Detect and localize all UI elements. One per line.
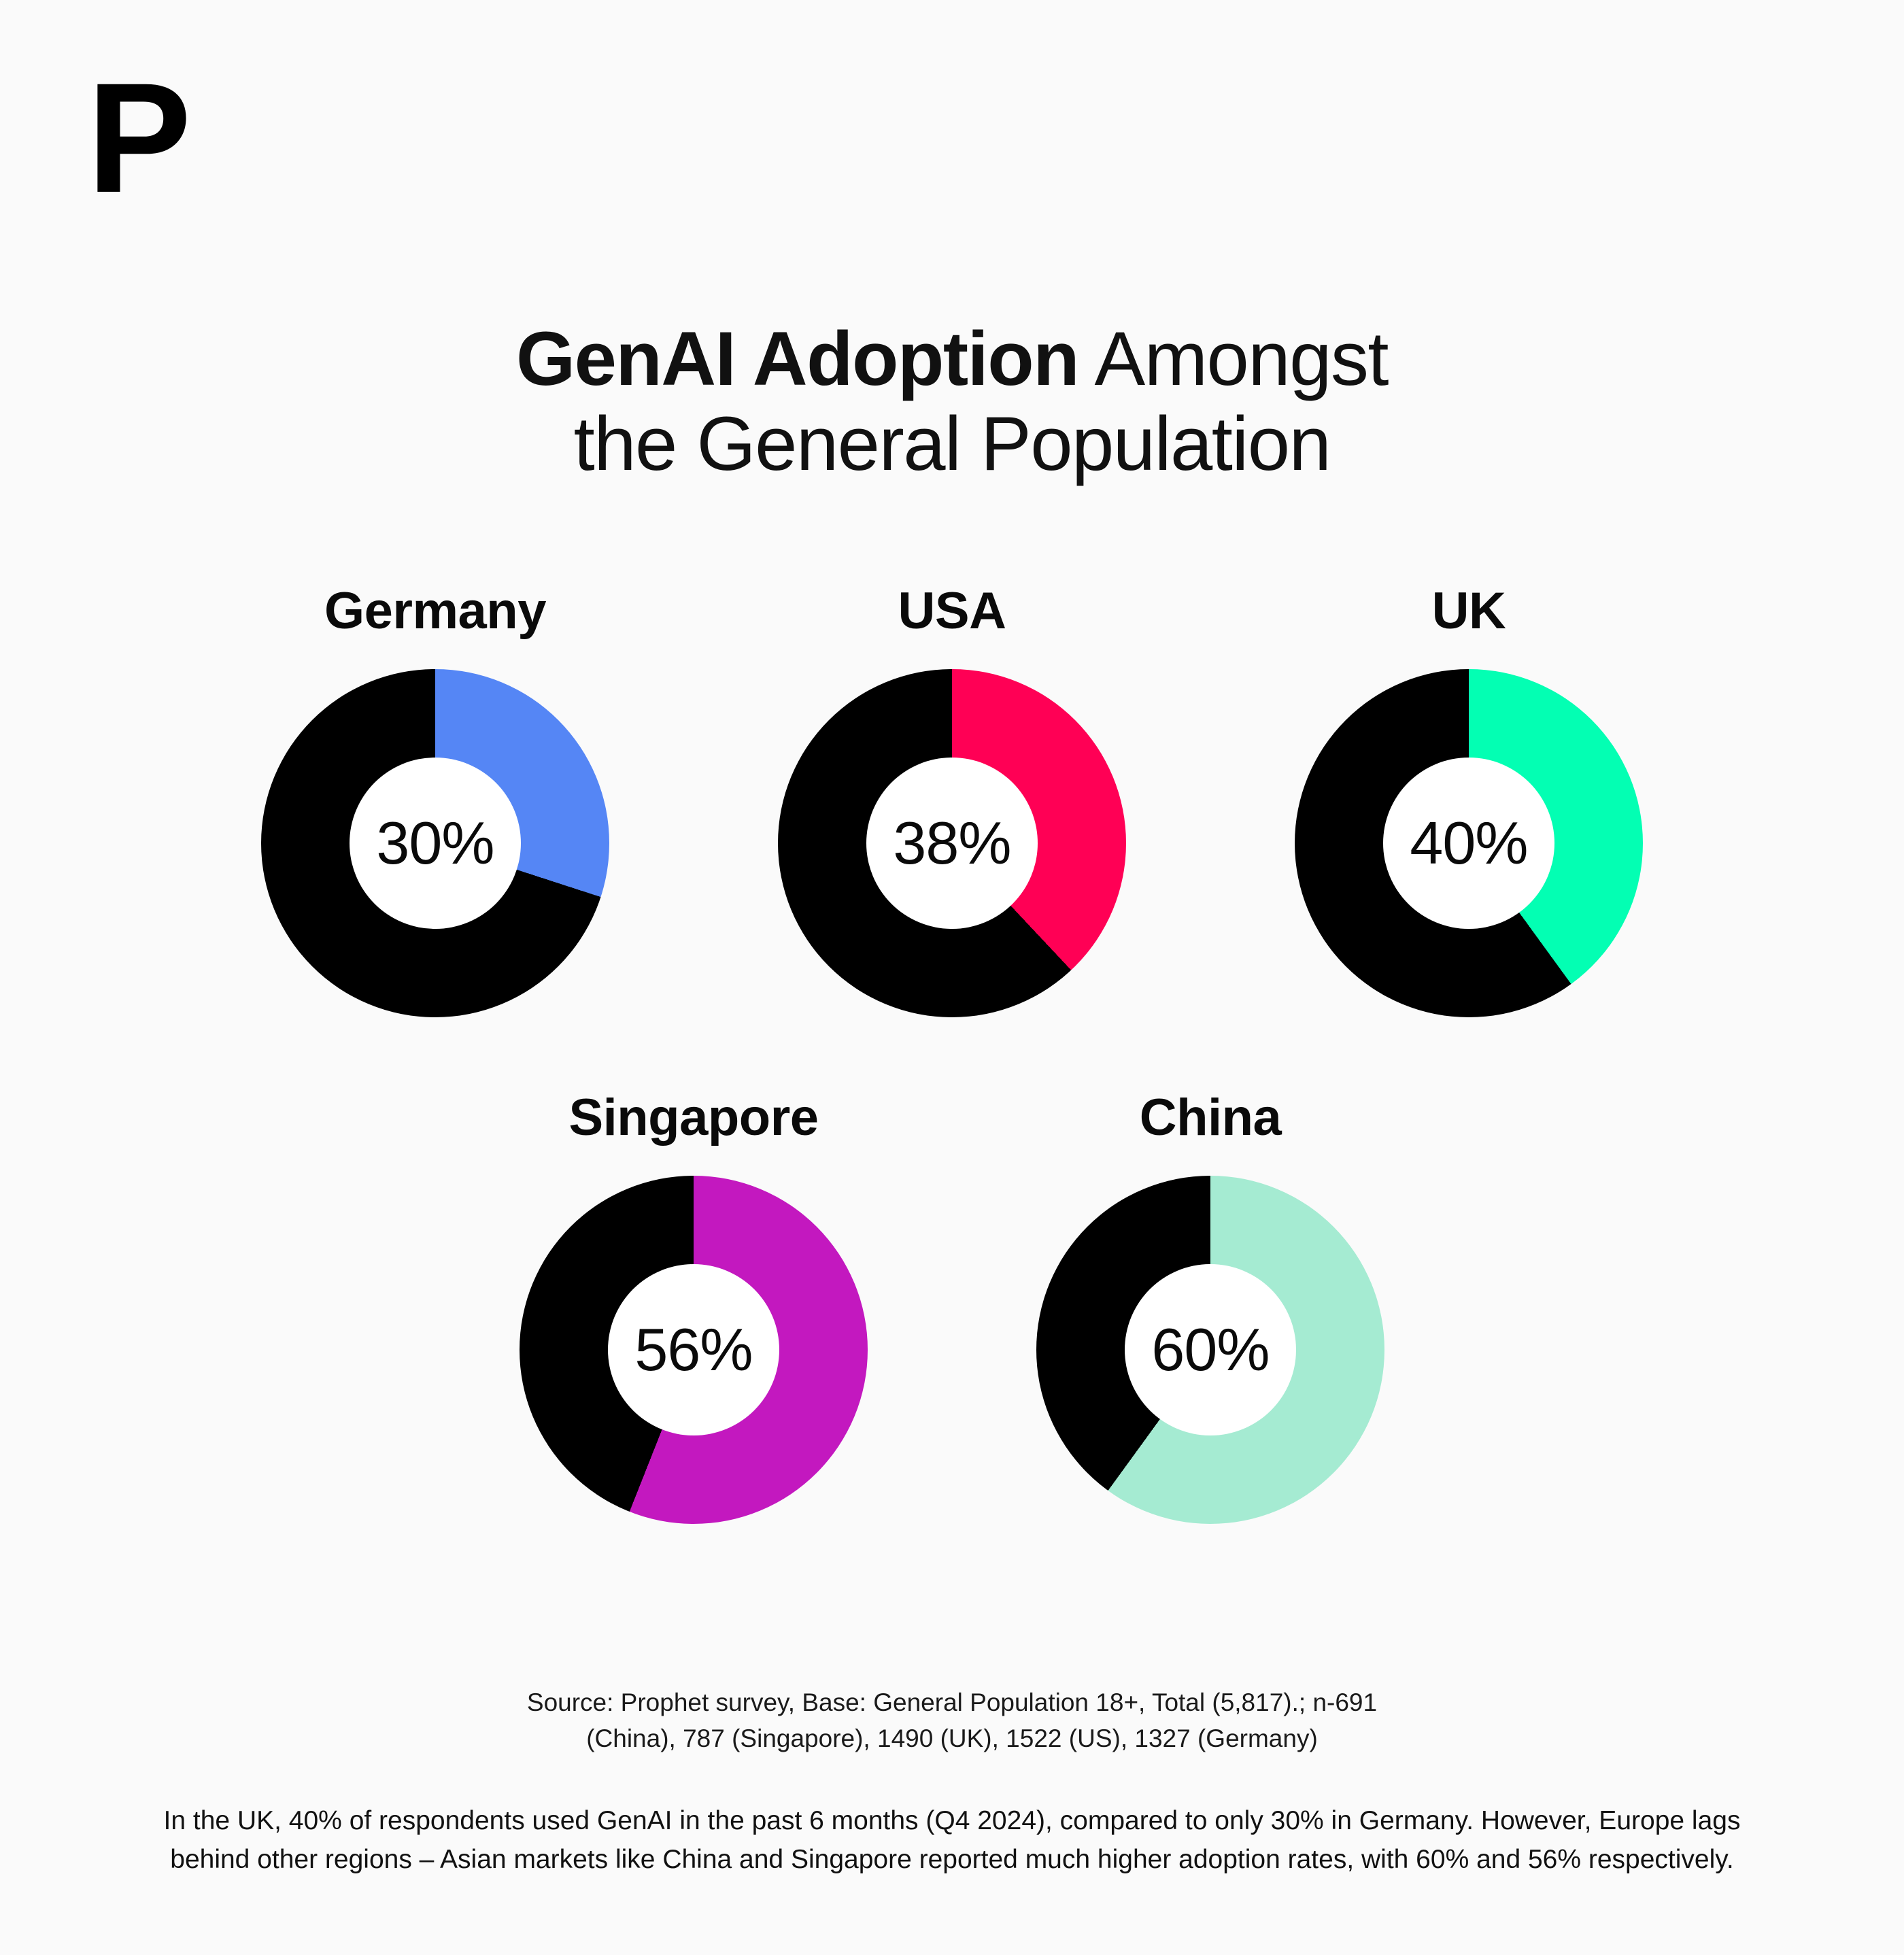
donut-graphic-uk: 40% — [1295, 669, 1643, 1017]
donut-value-germany: 30% — [376, 813, 494, 873]
donut-graphic-usa: 38% — [778, 669, 1126, 1017]
donut-hole-germany: 30% — [350, 758, 521, 929]
donut-chart-uk: UK 40% — [1210, 581, 1727, 1017]
donut-hole-singapore: 56% — [608, 1264, 779, 1435]
donut-label-china: China — [1140, 1088, 1282, 1147]
source-note: Source: Prophet survey, Base: General Po… — [0, 1685, 1904, 1756]
caption-line-2: behind other regions – Asian markets lik… — [116, 1841, 1788, 1880]
donut-chart-row-top: Germany 30% USA 38% UK 40% — [0, 581, 1904, 1017]
donut-graphic-singapore: 56% — [520, 1176, 868, 1524]
donut-graphic-germany: 30% — [261, 669, 609, 1017]
donut-chart-germany: Germany 30% — [177, 581, 694, 1017]
page-title-line2: the General Population — [0, 401, 1904, 486]
donut-value-china: 60% — [1151, 1320, 1269, 1380]
donut-value-uk: 40% — [1410, 813, 1527, 873]
prophet-logo: P — [87, 60, 187, 216]
donut-value-singapore: 56% — [634, 1320, 752, 1380]
source-line-2: (China), 787 (Singapore), 1490 (UK), 152… — [0, 1721, 1904, 1757]
donut-chart-usa: USA 38% — [694, 581, 1210, 1017]
source-line-1: Source: Prophet survey, Base: General Po… — [0, 1685, 1904, 1721]
donut-chart-row-bottom: Singapore 56% China 60% — [0, 1088, 1904, 1524]
donut-hole-uk: 40% — [1383, 758, 1554, 929]
donut-chart-singapore: Singapore 56% — [435, 1088, 952, 1524]
donut-value-usa: 38% — [893, 813, 1010, 873]
donut-hole-china: 60% — [1125, 1264, 1296, 1435]
donut-label-usa: USA — [898, 581, 1006, 641]
donut-hole-usa: 38% — [866, 758, 1038, 929]
caption-note: In the UK, 40% of respondents used GenAI… — [116, 1802, 1788, 1880]
page-title-rest: Amongst — [1078, 316, 1388, 401]
page-title: GenAI Adoption Amongst the General Popul… — [0, 316, 1904, 487]
donut-label-singapore: Singapore — [568, 1088, 818, 1147]
donut-chart-china: China 60% — [952, 1088, 1469, 1524]
donut-label-uk: UK — [1432, 581, 1506, 641]
donut-graphic-china: 60% — [1036, 1176, 1384, 1524]
page-title-bold: GenAI Adoption — [516, 316, 1078, 401]
donut-label-germany: Germany — [324, 581, 546, 641]
caption-line-1: In the UK, 40% of respondents used GenAI… — [116, 1802, 1788, 1841]
